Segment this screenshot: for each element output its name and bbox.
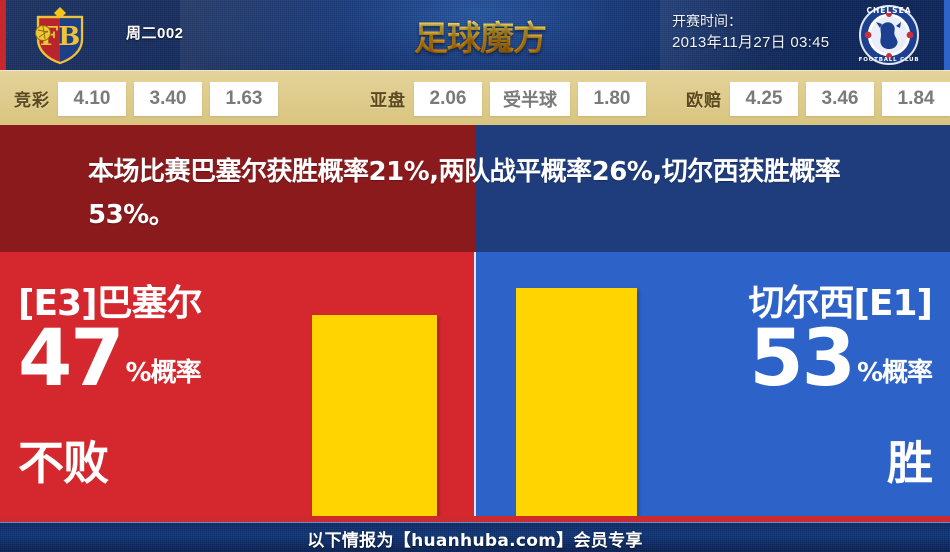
- away-percent-unit: %概率: [854, 360, 932, 396]
- euro-odds-draw[interactable]: 3.46: [806, 82, 874, 116]
- header-bar: FB 周二002 足球魔方 开赛时间： 2013年11月27日 03:45 CH…: [0, 0, 950, 70]
- home-percent-unit: %概率: [123, 360, 201, 396]
- odds-band: 竞彩 4.10 3.40 1.63 亚盘 2.06 受半球 1.80 欧赔 4.…: [0, 70, 950, 126]
- odds-value-home[interactable]: 4.10: [58, 82, 126, 116]
- footer-text: 以下情报为【huanhuba.com】会员专享: [307, 526, 642, 551]
- handicap-value-home[interactable]: 2.06: [414, 82, 482, 116]
- odds-group-label: 欧赔: [686, 86, 722, 111]
- kickoff-info: 开赛时间： 2013年11月27日 03:45: [672, 10, 829, 54]
- panel-divider: [474, 252, 476, 516]
- home-verdict: 不败: [18, 427, 318, 493]
- away-stats: 切尔西[E1] 53 %概率 胜: [632, 252, 932, 516]
- match-probability-infographic: FB 周二002 足球魔方 开赛时间： 2013年11月27日 03:45 CH…: [0, 0, 950, 552]
- summary-text: 本场比赛巴塞尔获胜概率21%,两队战平概率26%,切尔西获胜概率53%。: [88, 151, 888, 237]
- odds-group-jingcai: 竞彩 4.10 3.40 1.63: [14, 71, 286, 126]
- header-diagonal-sheen-left: [180, 0, 410, 70]
- home-stats: [E3]巴塞尔 47 %概率 不败: [18, 252, 318, 516]
- away-percent-value: 53: [749, 324, 854, 396]
- odds-value-away[interactable]: 1.63: [210, 82, 278, 116]
- probability-chart: [E3]巴塞尔 47 %概率 不败 切尔西[E1] 53 %概率 胜: [0, 252, 950, 516]
- away-percent-row: 53 %概率: [632, 324, 932, 396]
- fc-basel-crest-icon: FB: [26, 3, 94, 67]
- odds-group-oupei: 欧赔 4.25 3.46 1.84: [686, 71, 950, 126]
- odds-group-label: 竞彩: [14, 86, 50, 111]
- svg-text:FOOTBALL CLUB: FOOTBALL CLUB: [859, 57, 920, 63]
- home-percent-row: 47 %概率: [18, 324, 318, 396]
- home-percent-value: 47: [18, 324, 123, 396]
- home-probability-bar: [312, 315, 437, 516]
- brand-logo: 足球魔方: [400, 6, 560, 64]
- away-probability-bar: [516, 288, 637, 516]
- kickoff-time: 2013年11月27日 03:45: [672, 32, 829, 54]
- header-right-blue-edge: [944, 0, 950, 70]
- kickoff-label: 开赛时间：: [672, 10, 829, 32]
- odds-value-draw[interactable]: 3.40: [134, 82, 202, 116]
- summary-banner: 本场比赛巴塞尔获胜概率21%,两队战平概率26%,切尔西获胜概率53%。: [0, 125, 950, 252]
- header-left-red-edge: [0, 0, 6, 70]
- away-verdict: 胜: [632, 427, 932, 493]
- odds-group-label: 亚盘: [370, 86, 406, 111]
- euro-odds-home[interactable]: 4.25: [730, 82, 798, 116]
- brand-logo-text: 足球魔方: [414, 11, 546, 60]
- odds-group-yapan: 亚盘 2.06 受半球 1.80: [370, 71, 654, 126]
- svg-text:CHELSEA: CHELSEA: [866, 6, 911, 15]
- handicap-value-away[interactable]: 1.80: [578, 82, 646, 116]
- euro-odds-away[interactable]: 1.84: [882, 82, 950, 116]
- match-number: 周二002: [126, 22, 184, 43]
- handicap-line[interactable]: 受半球: [490, 82, 570, 116]
- footer-bar: 以下情报为【huanhuba.com】会员专享: [0, 522, 950, 552]
- chelsea-crest-icon: CHELSEA FOOTBALL CLUB: [856, 4, 922, 66]
